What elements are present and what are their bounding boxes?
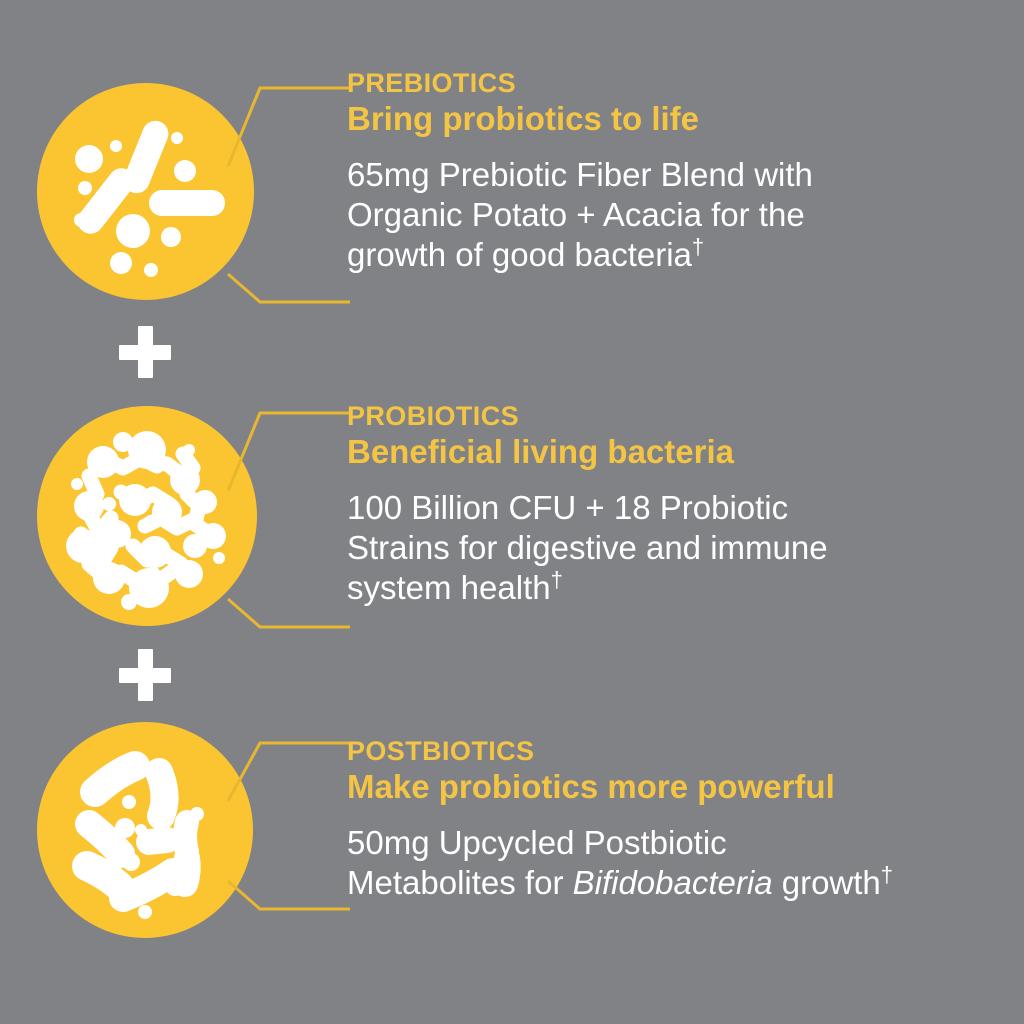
prebiotics-subhead: Bring probiotics to life — [347, 102, 1007, 137]
prebiotics-body: 65mg Prebiotic Fiber Blend with Organic … — [347, 155, 1007, 276]
postbiotics-body: 50mg Upcycled Postbiotic Metabolites for… — [347, 823, 1007, 904]
probiotics-subhead: Beneficial living bacteria — [347, 435, 1007, 470]
plus-separator-2 — [119, 649, 171, 701]
probiotics-text-block: PROBIOTICS Beneficial living bacteria 10… — [347, 403, 1007, 608]
postbiotics-subhead: Make probiotics more powerful — [347, 770, 1007, 805]
probiotics-body-line-2: Strains for digestive and immune — [347, 529, 828, 566]
prebiotic-rods-and-dots-icon — [37, 83, 254, 300]
probiotics-body: 100 Billion CFU + 18 Probiotic Strains f… — [347, 488, 1007, 609]
probiotics-body-line-1: 100 Billion CFU + 18 Probiotic — [347, 489, 788, 526]
postbiotics-text-block: POSTBIOTICS Make probiotics more powerfu… — [347, 738, 1007, 903]
probiotics-footnote-marker: † — [551, 567, 563, 592]
probiotics-body-line-3: system health — [347, 569, 551, 606]
prebiotic-badge — [37, 83, 254, 300]
postbiotics-footnote-marker: † — [881, 862, 893, 887]
prebiotics-body-line-1: 65mg Prebiotic Fiber Blend with — [347, 156, 813, 193]
postbiotics-body-line-1: 50mg Upcycled Postbiotic — [347, 824, 727, 861]
postbiotic-bacilli-icon — [37, 722, 253, 938]
plus-separator-1 — [119, 326, 171, 378]
postbiotics-body-line-2: Metabolites for — [347, 864, 573, 901]
prebiotics-footnote-marker: † — [692, 234, 704, 259]
probiotics-kicker: PROBIOTICS — [347, 403, 1007, 430]
postbiotics-kicker: POSTBIOTICS — [347, 738, 1007, 765]
probiotic-blob-cluster-icon — [37, 406, 257, 626]
prebiotics-body-line-3: growth of good bacteria — [347, 236, 692, 273]
postbiotic-badge — [37, 722, 253, 938]
postbiotics-body-line-3-suffix: growth — [773, 864, 881, 901]
prebiotics-text-block: PREBIOTICS Bring probiotics to life 65mg… — [347, 70, 1007, 275]
prebiotics-kicker: PREBIOTICS — [347, 70, 1007, 97]
infographic-root: PREBIOTICS Bring probiotics to life 65mg… — [0, 0, 1024, 1024]
prebiotics-body-line-2: Organic Potato + Acacia for the — [347, 196, 805, 233]
probiotic-badge — [37, 406, 257, 626]
postbiotics-body-italic-term: Bifidobacteria — [573, 864, 773, 901]
